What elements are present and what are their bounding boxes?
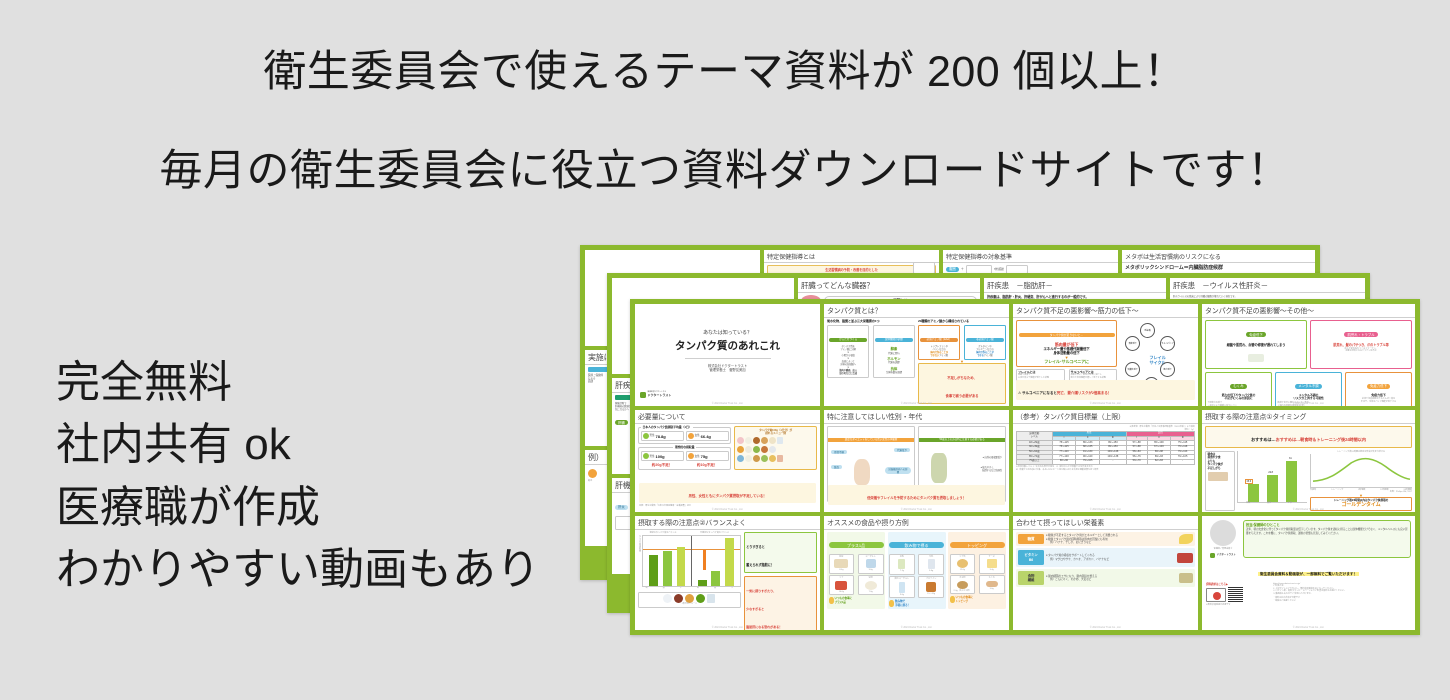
front-slide-target-groups[interactable]: 特に注意してほしい性別・年代 過度なダイエットをしている若い女性の予備軍 月経不… <box>824 410 1009 512</box>
food-amount: 7.0g <box>860 591 882 594</box>
bar-right-night <box>725 538 734 586</box>
metric-label: 男性 <box>650 434 655 437</box>
card-head: からだをつくる <box>829 338 867 342</box>
benefit-item-made-by-pro: 医療職が作成 <box>56 477 540 539</box>
nutrient-examples: 例）こんにゃく、わかめ、大麦など <box>1046 578 1179 581</box>
cycle-node: 食欲低下 <box>1125 336 1140 351</box>
nutrient-name: ビタミン B6 <box>1018 550 1044 565</box>
line-chart-title: トレーニング後24時間は筋肉の合成が高まり続ける <box>1310 451 1412 454</box>
slide-title: タンパク質不足の悪影響～その他～ <box>1202 304 1415 318</box>
section-head: 理想的な摂取量 <box>673 446 697 450</box>
bar-label: 夕食 <box>1288 502 1292 505</box>
x-label: 夕 <box>731 587 733 590</box>
nutrient-bullet: タンパク質の吸収をサポートしてくれる <box>1048 554 1094 557</box>
slide-title: 必要量について <box>635 410 820 424</box>
slide-title: タンパク質不足の悪影響～筋力の低下～ <box>1013 304 1198 318</box>
food-amount: 3.4g <box>981 569 1003 572</box>
benefit-item-share-ok: 社内共有 ok <box>56 414 540 476</box>
card-text: 肌荒れ、髪のパサつき、爪のトラブル等 <box>1313 343 1410 347</box>
food-amount: 2.4g（大さじ2杯） <box>952 590 974 593</box>
food-name: チーズ <box>981 556 1003 559</box>
line-x-label: トレーニング <box>1331 489 1343 492</box>
column-foot: いつもの食事に プラス1品 <box>835 597 852 603</box>
def-desc: 加齢に伴い、筋肉が徐々に減少し 筋力や身体機能が著しく低下する状態 <box>1071 374 1116 379</box>
x-label: 朝 <box>646 587 648 590</box>
doctor-trust-logo-icon <box>1210 553 1215 558</box>
lead-left: 炭水化物、脂質と並ぶ三大栄養素の1つ <box>827 320 915 324</box>
food-name: きな粉 <box>952 577 974 580</box>
result: フレイル･サルコペニアに <box>1019 359 1115 364</box>
back1-slide-title: メタボは生活習慣病のリスクになる <box>1122 250 1315 263</box>
timing-banner-highlight: おすすめは…朝食時＆トレーニング後24時間以内 <box>1276 437 1366 442</box>
protein-target-table: 身体活動 レベル 男性 女性 Ⅰ Ⅱ Ⅲ Ⅰ Ⅱ Ⅲ 18〜29歳 75 <box>1016 431 1195 465</box>
front-slide-timing[interactable]: 摂取する際の注意点①タイミング おすすめは…おすすめは…朝食時＆トレーニング後2… <box>1202 410 1415 512</box>
back1-slide-title: 特定保健指導の対象基準 <box>943 250 1118 263</box>
front-slide-target-upper-limit[interactable]: （参考）タンパク質目標量（上限） ※参考値：厚生労働省「日本人の食事摂取基準（2… <box>1013 410 1198 512</box>
slide-footer: © 2024 Doctor Trust Co., Ltd. <box>824 508 1009 512</box>
bar-breakfast <box>1248 484 1259 501</box>
cycle-node: 活動性低下 <box>1125 362 1140 377</box>
food-name: ツナ缶 <box>952 556 974 559</box>
panel-head: タンパク質100g（1日分）が 摂れるメニュー例 <box>737 429 815 436</box>
food-amount: 12.0g <box>952 569 974 572</box>
bar-lunch <box>1267 475 1278 502</box>
food-name: ちくわ <box>981 577 1003 580</box>
front-slide-recommended-foods[interactable]: オススメの食品や摂り方例 プラス1品 納豆 8.4g ヨーグルト 3.6g <box>824 516 1009 630</box>
metric-value: 78.8g <box>656 434 666 439</box>
card-text: 免疫力低下 <box>1348 394 1410 398</box>
column-head: 飲み物で摂る <box>889 542 944 548</box>
nutrient-examples: 例）バナナ、干し芋、おにぎりなど <box>1046 541 1179 544</box>
food-name: ツナ <box>831 577 853 580</box>
back1-slide-title: 特定保健指導とは <box>764 250 939 263</box>
front-slide-what-is-protein[interactable]: タンパク質とは？ 炭水化物、脂質と並ぶ三大栄養素の1つ からだをつくる タンパク… <box>824 304 1009 406</box>
bar-left-night <box>677 547 686 586</box>
x-label: 昼 <box>714 587 716 590</box>
tag: 月経不順 <box>831 450 847 454</box>
food-amount: 3.6g <box>860 569 882 572</box>
slide-footer: © 2024 Doctor Trust Co., Ltd. <box>1013 508 1198 512</box>
column-head: トッピング <box>950 542 1005 548</box>
bar-dinner <box>1286 461 1297 502</box>
headline-line-2: 毎月の衛生委員会に役立つ資料ダウンロードサイトです！ <box>0 149 1450 194</box>
metric-label: 男性 <box>650 455 655 458</box>
closing-sub-banner: 資料請求はこちら▶ <box>1206 583 1270 586</box>
tag: 貧血 <box>831 465 842 469</box>
card-head: 非必須アミノ酸 <box>966 338 1004 342</box>
bar-label: 昼食 <box>1267 502 1271 505</box>
tag: 代謝低下 <box>894 448 910 452</box>
closing-banner: 衛生委員会資料＆動画版が、一部無料でご覧いただけます！ <box>1258 572 1359 576</box>
def-desc: 加齢や疾患で 心身が衰えて機能が低下した状態 <box>1018 374 1063 379</box>
column-head: プラス1品 <box>829 542 884 548</box>
slide-footer: © 2024 Doctor Trust Co., Ltd. <box>824 402 1009 406</box>
card-head: 免疫低下 <box>1246 332 1266 337</box>
slide-title: 摂取する際の注意点②バランスよく <box>635 516 820 530</box>
table-cell: - <box>1100 459 1127 464</box>
bar-right-noon <box>711 571 720 586</box>
fish-icon <box>1177 553 1193 563</box>
doctor-trust-logo-icon <box>640 392 646 398</box>
card-head: メンタル不調 <box>1295 384 1321 389</box>
x-label: 昼 <box>663 587 665 590</box>
column-foot: いつもの食事に トッピング <box>956 596 973 602</box>
closing-logo-text: ドクタートラスト <box>1217 554 1236 557</box>
card-sub: 皮ふや髪の毛をつくるコラーゲン、 必要な材料となるケラチンの不足 <box>1313 348 1410 353</box>
cover-author: 管理栄養士 菅野友美加 <box>635 368 820 372</box>
card-head: 過度なダイエットをしている若い女性の予備軍 <box>828 438 914 442</box>
food-name: 豆腐 <box>860 577 882 580</box>
table-cell: 62〜83 <box>1147 459 1171 464</box>
front-slide-required-amount[interactable]: 必要量について 日本人のタンパク質摂取平均量（1日） 男性 78.8g <box>635 410 820 512</box>
slide-footer: © 2024 Doctor Trust Co., Ltd. <box>635 626 820 630</box>
table-cell: - <box>1171 459 1195 464</box>
card-head: 免疫力低下 <box>1367 384 1390 389</box>
column-foot: 飲み物で 手軽に摂る！ <box>895 600 910 606</box>
food-amount: 6.6g <box>920 570 942 573</box>
slide-note: 男性、女性ともにタンパク質摂取が不足している！ <box>688 494 766 498</box>
up-down-arrow-icon <box>703 550 706 570</box>
cover-title: タンパク質のあれこれ <box>635 338 820 353</box>
cover-logo-text: ドクタートラスト <box>648 393 672 397</box>
timing-left-note: 朝食は 昼食や夕食 よりも タンパク質が 不足しがち <box>1208 453 1233 470</box>
cycle-node: 低栄養 <box>1140 323 1155 338</box>
nutrient-name: 糖質 <box>1018 534 1044 544</box>
slide-source: 出典：厚生労働省「令和元年国民健康・栄養調査」ほか <box>639 505 691 508</box>
metric-label: 女性 <box>695 434 700 437</box>
metric-value: 100g <box>656 454 665 459</box>
table-note: Ⅲ：移動や立位の多い仕事、あるいはスポーツ等余暇における活発な運動習慣を持つ場合 <box>1016 469 1195 472</box>
back1-banner: メタボリックシンドローム＝内臓脂肪症候群 <box>1125 265 1312 271</box>
collage-front-layer: あなたは知っている？ タンパク質のあれこれ 株式会社ドクタートラスト 管理栄養士… <box>630 299 1420 635</box>
table-row-head: 身体活動 レベル <box>1017 432 1053 441</box>
card-text: 筋力の低下やタンパク質の 不足がむくみの原因に <box>1208 394 1270 401</box>
banana-icon <box>1179 534 1193 544</box>
muscle-synthesis-line-icon <box>1311 454 1412 487</box>
slide-title: タンパク質とは？ <box>824 304 1009 318</box>
bar-left-noon <box>663 551 672 586</box>
meal-label: 1食分のイメージ <box>641 603 739 606</box>
table-row: 75歳以上 68〜90 79〜105 - 53〜70 62〜83 - <box>1017 459 1195 464</box>
line-x-label: 安静時 <box>1310 489 1316 492</box>
metric-value: 66.4g <box>701 434 711 439</box>
balance-callout-1: とりすぎると 蓄えられず脂肪に！ <box>746 545 774 567</box>
qr-code-icon <box>1228 587 1243 602</box>
food-amount: 3.6g <box>891 594 913 597</box>
slide-footer: © 2024 Doctor Trust Co., Ltd. <box>1202 508 1415 512</box>
food-name: 牛乳 <box>920 556 942 559</box>
food-name: ヨーグルト <box>860 556 882 559</box>
gap-value: 約10g不足！ <box>686 463 729 468</box>
metric-value: 75g <box>701 454 708 459</box>
slide-footer: © 2024 Doctor Trust Co., Ltd. <box>1202 402 1415 406</box>
food-amount: 7.1g <box>891 570 913 573</box>
front-slide-nutrients[interactable]: 合わせて摂ってほしい栄養素 糖質 ● 糖質が不足するとタンパク質がエネルギーとし… <box>1013 516 1198 630</box>
card-head: 50歳以上の方は特に注意する必要がある <box>919 438 1005 442</box>
band: タンパク質が足りないと… <box>1019 333 1115 337</box>
tag: 妊娠糖尿病への影響 <box>885 467 911 474</box>
table-cell: 79〜105 <box>1076 459 1100 464</box>
back2-slide-title: 肝疾患 －脂肪肝－ <box>984 278 1166 293</box>
card-text: メンタル不調の リスクが上昇する可能性 <box>1278 394 1340 401</box>
front-slide-balance[interactable]: 摂取する際の注意点②バランスよく 適切なタンパク質のバランス 不適切なタンパク質… <box>635 516 820 630</box>
table-cell: 68〜90 <box>1052 459 1076 464</box>
slide-footer: © 2024 Doctor Trust Co., Ltd. <box>635 508 820 512</box>
front-slide-deficiency-muscle[interactable]: タンパク質不足の悪影響～筋力の低下～ タンパク質が足りないと… 筋肉量が低下 エ… <box>1013 304 1198 406</box>
cover-pretitle: あなたは知っている？ <box>635 330 820 336</box>
gap-value: 約20g不足！ <box>641 463 684 468</box>
x-label: 夕 <box>680 587 682 590</box>
cycle-node: サルコペニア <box>1160 336 1175 351</box>
avatar <box>1210 520 1236 546</box>
slide-footer: © 2024 Doctor Trust Co., Ltd. <box>1013 626 1198 630</box>
speaker-head: 担当 保健師のひとこと <box>1246 523 1408 527</box>
food-amount: 3.6g <box>981 588 1003 591</box>
slide-note: 低栄養やフレイルを予防するためにタンパク質を摂取しましょう！ <box>867 496 966 500</box>
benefits-list: 完全無料 社内共有 ok 医療職が作成 わかりやすい動画もあり <box>56 352 540 602</box>
bar-value-dinner: 31 <box>1289 457 1292 460</box>
balance-callout-2: 一気に摂りすぎたり、 少なすぎると 脂肪肝になる恐れがある！ <box>746 589 782 629</box>
food-name: 納豆 <box>831 556 853 559</box>
card-head: 肌荒れ・トラブル <box>1344 332 1377 337</box>
card-head: 身体機能の調整 <box>875 338 913 342</box>
slide-title: 摂取する際の注意点①タイミング <box>1202 410 1415 424</box>
food-amount: 15〜20g <box>920 593 942 596</box>
bar-right-morning <box>698 580 707 586</box>
bar-value-lunch: 22.8 <box>1268 471 1273 474</box>
front-slide-deficiency-other[interactable]: タンパク質不足の悪影響～その他～ 免疫低下 細菌や肌荒れ、血管の修復が遅れてしま… <box>1202 304 1415 406</box>
x-label: 朝 <box>697 587 699 590</box>
headline-block: 衛生委員会で使えるテーマ資料が 200 個以上！ 毎月の衛生委員会に役立つ資料ダ… <box>0 0 1450 194</box>
slide-collage: 中小企業向け 特定保健指導とは 生活習慣病の予防・改善を目的とした 特定保健指導… <box>580 245 1420 645</box>
metric-label: 女性 <box>695 455 700 458</box>
seaweed-icon <box>1179 573 1193 583</box>
food-name: 飲むヨーグルト <box>891 578 913 581</box>
table-cell: 53〜70 <box>1126 459 1147 464</box>
back2-slide-title: 肝疾患 －ウイルス性肝炎－ <box>1170 278 1365 293</box>
back1-banner: 生活習慣病の予防・改善を目的とした <box>770 268 934 272</box>
back2-slide-title: 肝臓ってどんな臓器？ <box>798 278 980 293</box>
slide-footer: © 2024 Doctor Trust Co., Ltd. <box>1013 402 1198 406</box>
table-age: 75歳以上 <box>1017 459 1053 464</box>
slide-title: （参考）タンパク質目標量（上限） <box>1013 410 1198 424</box>
slide-footer: © 2024 Doctor Trust Co., Ltd. <box>1202 626 1415 630</box>
food-amount: 16.0g <box>831 591 853 594</box>
bar-label: 朝食 <box>1246 502 1250 505</box>
front-slide-closing[interactable]: 保健師／管理栄養士 ドクタートラスト 担当 保健師のひとこと 近年、朝の欠食化に… <box>1202 516 1415 630</box>
benefit-item-free: 完全無料 <box>56 352 540 414</box>
card-head: むくみ <box>1230 384 1246 389</box>
line-x-label: 3時間後 <box>1358 489 1365 492</box>
nutrient-name: 食物 繊維 <box>1018 571 1044 586</box>
bar-value-breakfast: 15.6 <box>1245 479 1253 484</box>
slide-footer: © 2024 Doctor Trust Co., Ltd. <box>824 626 1009 630</box>
food-name: 豆乳 <box>891 556 913 559</box>
card-head: 必須アミノ酸（EAA） <box>920 338 958 342</box>
card-text: 細菌や肌荒れ、血管の修復が遅れてしまう <box>1208 343 1305 347</box>
cycle-node: 筋力低下 <box>1160 362 1175 377</box>
slide-title: 合わせて摂ってほしい栄養素 <box>1013 516 1198 530</box>
callout: 不足しがちなため、 食事で補う必要がある <box>946 376 979 398</box>
line-x-label: 12時間後 <box>1380 489 1389 492</box>
slide-footer: © 2024 Doctor Trust Co., Ltd. <box>635 402 820 406</box>
slide-title: 特に注意してほしい性別・年代 <box>824 410 1009 424</box>
benefit-item-videos: わかりやすい動画もあり <box>56 539 540 601</box>
front-slide-cover[interactable]: あなたは知っている？ タンパク質のあれこれ 株式会社ドクタートラスト 管理栄養士… <box>635 304 820 406</box>
speaker-text: 近年、朝の欠食化に伴ってタンパク質摂取量は低下しています。タンパク質を適切に摂る… <box>1246 528 1408 535</box>
headline-line-1: 衛生委員会で使えるテーマ資料が 200 個以上！ <box>0 50 1450 95</box>
lead-right: 20種類のアミノ酸から構成されている <box>918 320 1006 324</box>
laptop-icon <box>1206 588 1226 602</box>
bar-left-morning <box>649 555 658 586</box>
section-head: 日本人のタンパク質摂取平均量（1日） <box>641 426 694 430</box>
slide-title: オススメの食品や摂り方例 <box>824 516 1009 530</box>
closing-qr-note: ※無料会員登録が必要です <box>1206 604 1270 607</box>
food-amount: 8.4g <box>831 569 853 572</box>
food-name: プロテイン <box>920 578 942 581</box>
nutrient-examples: 例）マグロやサケ、カツオ、アボカド、バナナなど <box>1046 558 1177 561</box>
